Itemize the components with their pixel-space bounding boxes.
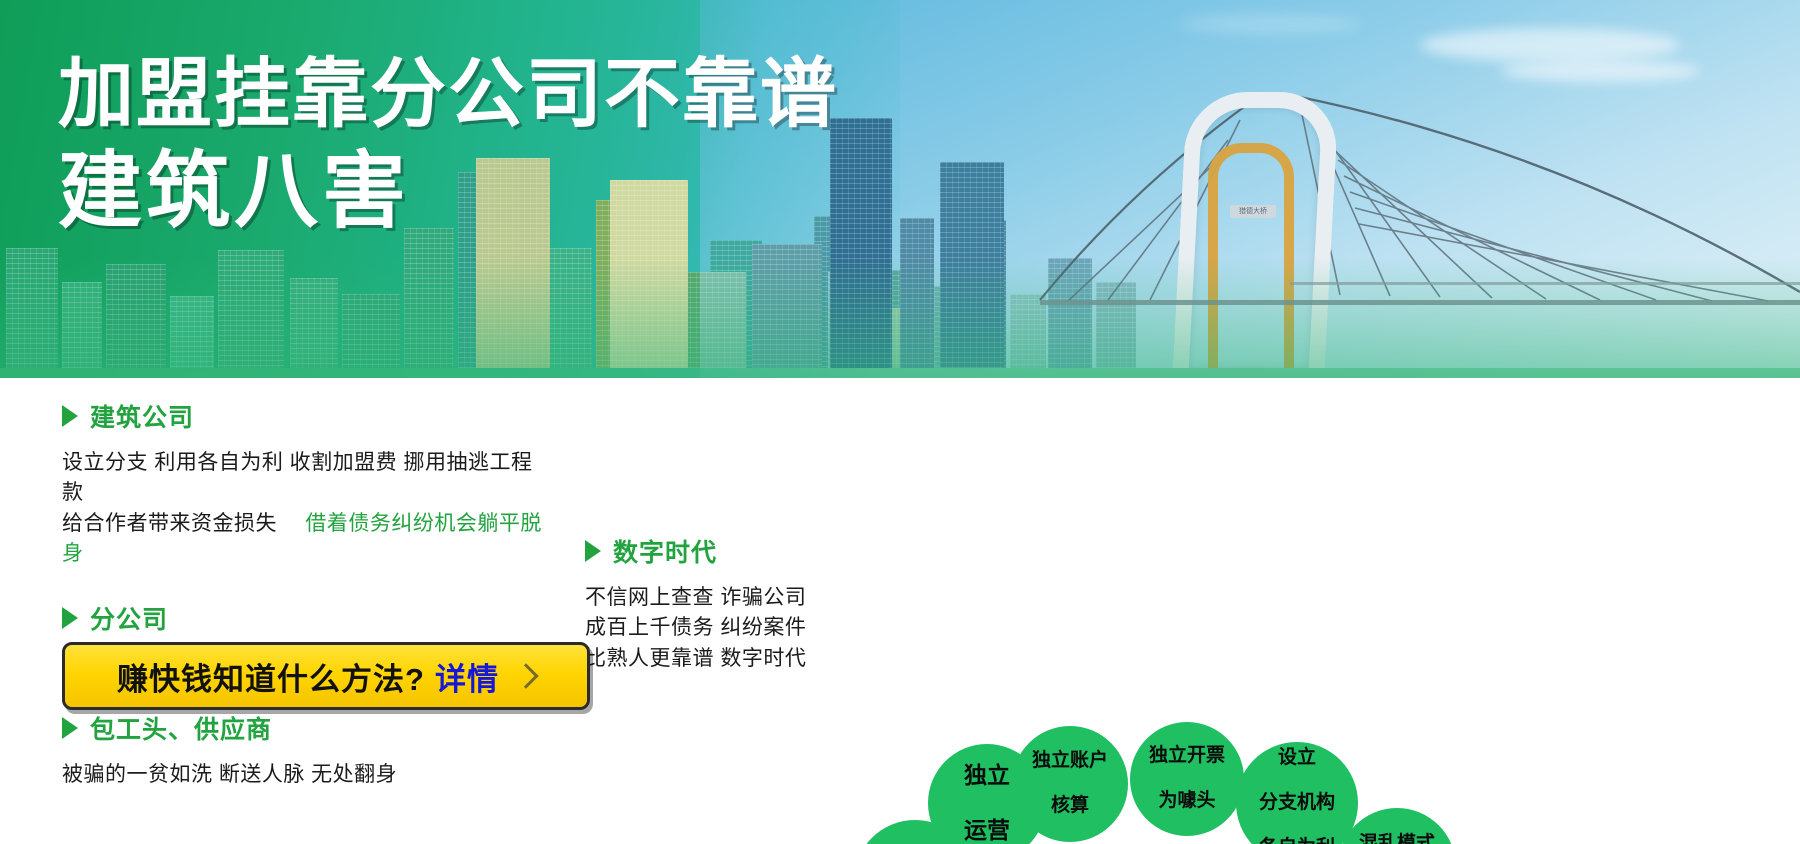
section-body: 设立分支 利用各自为利 收割加盟费 挪用抽逃工程款 给合作者带来资金损失 借着债… — [62, 448, 542, 570]
hero-baseline — [0, 368, 1800, 378]
section-header: 分公司 — [62, 600, 542, 636]
bubble-text: 混乱模式 浑水摸鱼 — [1351, 833, 1443, 844]
bubble-independent-invoicing[interactable]: 独立开票 为噱头 — [1130, 722, 1244, 836]
bubble-text: 独立账户 核算 — [1024, 750, 1116, 817]
bubble-text: 独立 运营 — [956, 762, 1018, 843]
triangle-bullet-icon — [62, 405, 78, 427]
hero-title-group: 加盟挂靠分公司不靠谱 建筑八害 — [58, 52, 838, 240]
section-title: 数字时代 — [613, 533, 717, 569]
section-header: 数字时代 — [585, 533, 845, 569]
section-construction-company: 建筑公司 设立分支 利用各自为利 收割加盟费 挪用抽逃工程款 给合作者带来资金损… — [62, 398, 542, 570]
bridge-badge-label: 猎德大桥 — [1230, 205, 1276, 218]
section-body-line: 设立分支 利用各自为利 收割加盟费 挪用抽逃工程款 — [62, 448, 542, 509]
section-contractor-supplier: 包工头、供应商 被骗的一贫如洗 断送人脉 无处翻身 — [62, 710, 542, 790]
section-body: 被骗的一贫如洗 断送人脉 无处翻身 — [62, 760, 542, 790]
bubble-text: 设立 分支机构 各自为利 — [1251, 747, 1343, 844]
section-title: 分公司 — [90, 600, 168, 636]
content-area: 建筑公司 设立分支 利用各自为利 收割加盟费 挪用抽逃工程款 给合作者带来资金损… — [0, 378, 1800, 844]
section-digital-age: 数字时代 不信网上查查 诈骗公司 成百上千债务 纠纷案件 比熟人更靠谱 数字时代 — [585, 533, 845, 674]
section-title: 包工头、供应商 — [90, 710, 272, 746]
bubble-set-up-branches[interactable]: 设立 分支机构 各自为利 — [1236, 742, 1358, 844]
section-header: 建筑公司 — [62, 398, 542, 434]
cta-label: 赚快钱知道什么方法? — [117, 654, 425, 699]
section-title: 建筑公司 — [90, 398, 194, 434]
poster-root: 猎德大桥 加盟挂靠分公司不靠谱 建筑八害 建筑公司 设立分支 利用各自为利 收割… — [0, 0, 1800, 844]
triangle-bullet-icon — [62, 717, 78, 739]
section-header: 包工头、供应商 — [62, 710, 542, 746]
cta-link-label[interactable]: 详情 — [435, 654, 499, 699]
chevron-right-icon — [513, 663, 538, 688]
section-body-text: 给合作者带来资金损失 — [62, 512, 277, 535]
bahai-diagram: 建筑八害 借着使用 总公司资质 业绩和荣誉 独立承揽 签订合同 独立 运营 — [800, 728, 1800, 844]
section-body-line: 被骗的一贫如洗 断送人脉 无处翻身 — [62, 760, 542, 790]
left-column: 建筑公司 设立分支 利用各自为利 收割加盟费 挪用抽逃工程款 给合作者带来资金损… — [62, 398, 542, 817]
hero-bottom-fade — [0, 258, 1800, 378]
hero-banner: 猎德大桥 加盟挂靠分公司不靠谱 建筑八害 — [0, 0, 1800, 378]
hero-title-line1: 加盟挂靠分公司不靠谱 — [58, 52, 838, 137]
bubble-independent-account[interactable]: 独立账户 核算 — [1012, 726, 1128, 842]
triangle-bullet-icon — [62, 607, 78, 629]
section-body-line: 不信网上查查 诈骗公司 — [585, 583, 845, 613]
triangle-bullet-icon — [585, 540, 601, 562]
section-body-line: 给合作者带来资金损失 借着债务纠纷机会躺平脱身 — [62, 509, 542, 570]
section-body: 不信网上查查 诈骗公司 成百上千债务 纠纷案件 比熟人更靠谱 数字时代 — [585, 583, 845, 674]
bubble-text: 独立开票 为噱头 — [1141, 745, 1233, 812]
hero-title-line2: 建筑八害 — [58, 143, 838, 240]
section-body-line: 比熟人更靠谱 数字时代 — [585, 644, 845, 674]
cta-button[interactable]: 赚快钱知道什么方法? 详情 — [62, 642, 590, 710]
section-body-line: 成百上千债务 纠纷案件 — [585, 613, 845, 643]
